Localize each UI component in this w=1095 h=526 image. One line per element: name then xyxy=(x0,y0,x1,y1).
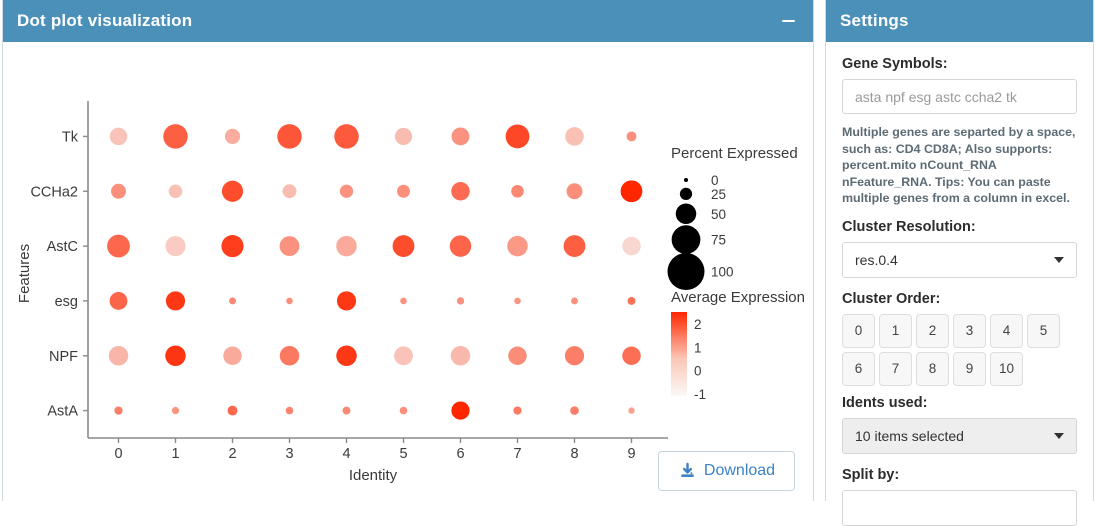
settings-title: Settings xyxy=(840,11,909,31)
dot-plot-point xyxy=(621,180,643,202)
x-axis-tick-label: 2 xyxy=(228,446,236,462)
y-axis-tick-label: CCHa2 xyxy=(30,184,78,200)
dot-plot-point xyxy=(169,184,183,198)
dot-plot-point xyxy=(166,291,185,310)
gene-symbols-label: Gene Symbols: xyxy=(842,56,1077,72)
minimize-icon[interactable] xyxy=(777,10,799,32)
y-axis-tick-label: esg xyxy=(55,294,78,310)
dot-plot-point xyxy=(451,346,471,366)
dot-plot-point xyxy=(506,125,530,149)
dot-plot-point xyxy=(571,297,578,304)
x-axis-tick-label: 7 xyxy=(513,446,521,462)
dot-plot-point xyxy=(394,346,413,365)
x-axis-tick-label: 5 xyxy=(399,446,407,462)
dot-plot-point xyxy=(286,298,293,305)
y-axis-tick-label: Tk xyxy=(62,129,79,145)
dot-plot-point xyxy=(334,124,358,148)
dot-plot-point xyxy=(622,346,641,365)
x-axis-tick-label: 6 xyxy=(456,446,464,462)
settings-panel-header: Settings xyxy=(826,0,1093,42)
dot-plot-point xyxy=(337,291,356,310)
settings-body: Gene Symbols: Multiple genes are separte… xyxy=(826,42,1093,526)
split-by-label: Split by: xyxy=(842,467,1077,483)
y-axis-title: Features xyxy=(16,244,33,303)
cluster-order-list[interactable]: 012345678910 xyxy=(842,314,1077,386)
dot-plot-point xyxy=(622,237,641,256)
dot-plot-panel: Dot plot visualization TkCCHa2AstCesgNPF… xyxy=(2,0,814,501)
dot-plot-point xyxy=(114,406,122,414)
dot-plot-point xyxy=(513,406,521,414)
dot-plot-point xyxy=(457,297,464,304)
dot-plot-point xyxy=(223,346,242,365)
dot-plot-point xyxy=(283,184,297,198)
color-legend-tick-label: 2 xyxy=(694,317,702,332)
dot-plot-point xyxy=(627,131,637,141)
x-axis-tick-label: 8 xyxy=(570,446,578,462)
cluster-order-label: Cluster Order: xyxy=(842,291,1077,307)
cluster-order-chip[interactable]: 8 xyxy=(916,352,949,386)
dot-plot-point xyxy=(165,346,186,367)
app-root: Dot plot visualization TkCCHa2AstCesgNPF… xyxy=(0,0,1095,501)
x-axis-tick-label: 9 xyxy=(627,446,635,462)
gene-symbols-input[interactable] xyxy=(842,79,1077,114)
x-axis-title: Identity xyxy=(349,467,398,484)
dot-plot-point xyxy=(508,346,527,365)
x-axis-tick-label: 3 xyxy=(285,446,293,462)
y-axis-tick-label: NPF xyxy=(49,349,78,365)
dot-plot-point xyxy=(111,184,126,199)
dot-plot-point xyxy=(225,129,240,144)
cluster-order-chip[interactable]: 3 xyxy=(953,314,986,348)
dot-plot-point xyxy=(564,235,586,257)
chevron-down-icon xyxy=(1054,257,1064,263)
dot-plot-point xyxy=(514,298,521,305)
dot-plot-point xyxy=(165,236,185,256)
dot-plot-point xyxy=(221,235,243,257)
dot-plot-point xyxy=(400,298,407,305)
dot-plot-point xyxy=(336,346,357,367)
x-axis-tick-label: 1 xyxy=(171,446,179,462)
dot-plot-point xyxy=(109,346,129,366)
dot-plot-point xyxy=(452,127,470,145)
dot-plot-point xyxy=(229,297,236,304)
dot-plot-point xyxy=(567,183,583,199)
cluster-order-chip[interactable]: 0 xyxy=(842,314,875,348)
dot-plot-point xyxy=(397,185,410,198)
cluster-resolution-label: Cluster Resolution: xyxy=(842,219,1077,235)
dot-plot-body: TkCCHa2AstCesgNPFAstAFeatures0123456789I… xyxy=(3,42,813,501)
dot-plot-panel-header: Dot plot visualization xyxy=(3,0,813,42)
settings-panel: Settings Gene Symbols: Multiple genes ar… xyxy=(825,0,1094,501)
size-legend-label: 50 xyxy=(711,207,726,222)
cluster-order-chip[interactable]: 1 xyxy=(879,314,912,348)
cluster-order-chip[interactable]: 9 xyxy=(953,352,986,386)
idents-used-label: Idents used: xyxy=(842,395,1077,411)
x-axis-tick-label: 4 xyxy=(342,446,350,462)
dot-plot-chart: TkCCHa2AstCesgNPFAstAFeatures0123456789I… xyxy=(3,42,813,501)
download-button[interactable]: Download xyxy=(658,451,795,491)
dot-plot-point xyxy=(451,401,469,419)
dot-plot-point xyxy=(507,236,528,256)
dot-plot-point xyxy=(570,406,579,415)
cluster-order-chip[interactable]: 10 xyxy=(990,352,1023,386)
dot-plot-point xyxy=(110,292,128,310)
size-legend-label: 100 xyxy=(711,264,734,279)
size-legend-label: 75 xyxy=(711,233,726,248)
dot-plot-point xyxy=(172,407,179,414)
dot-plot-point xyxy=(163,124,187,148)
color-legend-tick-label: -1 xyxy=(694,387,706,402)
dot-plot-point xyxy=(107,235,130,258)
cluster-resolution-value: res.0.4 xyxy=(855,252,898,268)
dot-plot-point xyxy=(400,407,408,415)
size-legend-label: 0 xyxy=(711,173,719,188)
gene-symbols-helper-text: Multiple genes are separted by a space, … xyxy=(842,124,1077,207)
dot-plot-point xyxy=(336,236,357,256)
dot-plot-point xyxy=(393,235,415,257)
dot-plot-point xyxy=(450,235,471,256)
dot-plot-point xyxy=(343,407,351,415)
dot-plot-point xyxy=(628,407,634,413)
size-legend-label: 25 xyxy=(711,187,726,202)
dot-plot-point xyxy=(222,181,243,202)
dot-plot-point xyxy=(511,185,524,198)
cluster-order-chip[interactable]: 5 xyxy=(1027,314,1060,348)
dot-plot-point xyxy=(280,346,300,366)
cluster-order-chip[interactable]: 7 xyxy=(879,352,912,386)
idents-used-select[interactable]: 10 items selected xyxy=(842,418,1077,454)
dot-plot-point xyxy=(395,128,412,145)
dot-plot-point xyxy=(340,185,353,198)
dot-plot-point xyxy=(628,297,636,305)
cluster-order-chip[interactable]: 4 xyxy=(990,314,1023,348)
chevron-down-icon xyxy=(1054,433,1064,439)
download-button-label: Download xyxy=(704,462,775,480)
dot-plot-point xyxy=(565,127,584,146)
color-legend-title: Average Expression xyxy=(671,289,805,306)
color-legend-tick-label: 0 xyxy=(694,364,702,379)
idents-used-value: 10 items selected xyxy=(855,428,964,444)
color-legend-bar xyxy=(671,312,687,396)
y-axis-tick-label: AstA xyxy=(47,404,78,420)
dot-plot-point xyxy=(451,182,470,201)
color-legend-tick-label: 1 xyxy=(694,340,702,355)
dot-plot-point xyxy=(286,407,294,415)
dot-plot-point xyxy=(228,406,238,416)
y-axis-tick-label: AstC xyxy=(47,239,78,255)
split-by-select[interactable] xyxy=(842,490,1077,526)
size-legend-title: Percent Expressed xyxy=(671,145,798,162)
page-title: Dot plot visualization xyxy=(17,11,192,31)
download-icon xyxy=(678,462,697,481)
cluster-resolution-select[interactable]: res.0.4 xyxy=(842,242,1077,278)
dot-plot-point xyxy=(277,124,301,148)
cluster-order-chip[interactable]: 2 xyxy=(916,314,949,348)
dot-plot-point xyxy=(280,236,300,256)
dot-plot-point xyxy=(110,128,128,146)
cluster-order-chip[interactable]: 6 xyxy=(842,352,875,386)
dot-plot-point xyxy=(565,346,584,365)
x-axis-tick-label: 0 xyxy=(114,446,122,462)
